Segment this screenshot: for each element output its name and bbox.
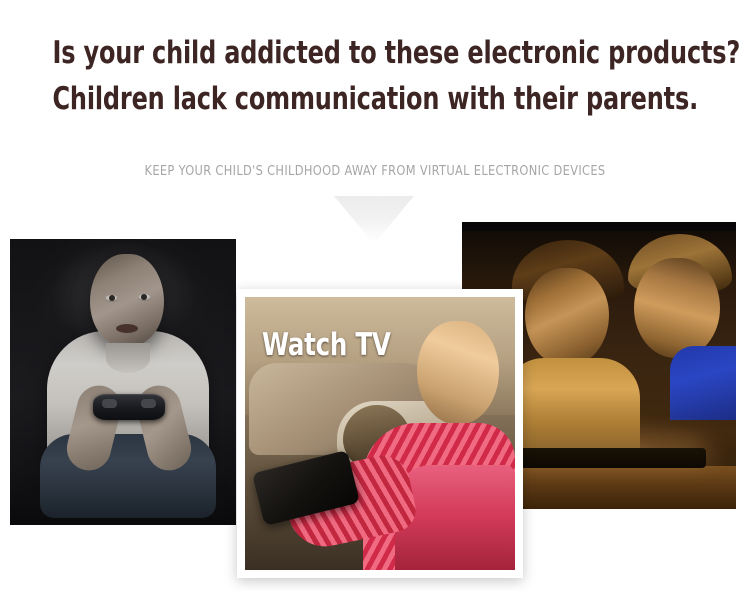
card-play-games[interactable]: Play games — [10, 239, 236, 525]
subtitle: KEEP YOUR CHILD'S CHILDHOOD AWAY FROM VI… — [23, 163, 728, 179]
headline-block: Is your child addicted to these electron… — [0, 30, 750, 122]
photo-top-band — [462, 222, 736, 231]
photo-game-controller — [93, 394, 165, 420]
photo-pupil-right — [141, 294, 147, 300]
photo-phone-device — [492, 448, 706, 468]
card-play-games-photo — [10, 239, 236, 525]
headline-line-1: Is your child addicted to these electron… — [53, 30, 698, 76]
photo-boy-head — [634, 258, 720, 358]
photo-mouth — [116, 324, 138, 333]
card-caption-watch-tv: Watch TV — [262, 327, 391, 363]
photo-collar — [106, 343, 150, 373]
photo-boy-shirt — [670, 346, 736, 420]
promo-banner: Is your child addicted to these electron… — [0, 0, 750, 591]
photo-pupil-left — [109, 295, 115, 301]
card-watch-tv[interactable]: Watch TV — [237, 289, 523, 578]
photo-girl-head — [525, 268, 609, 366]
photo-girl-head — [417, 321, 499, 425]
triangle-down-icon — [334, 196, 414, 244]
triangle-down-shape — [334, 196, 414, 244]
headline-line-2: Children lack communication with their p… — [53, 76, 698, 122]
